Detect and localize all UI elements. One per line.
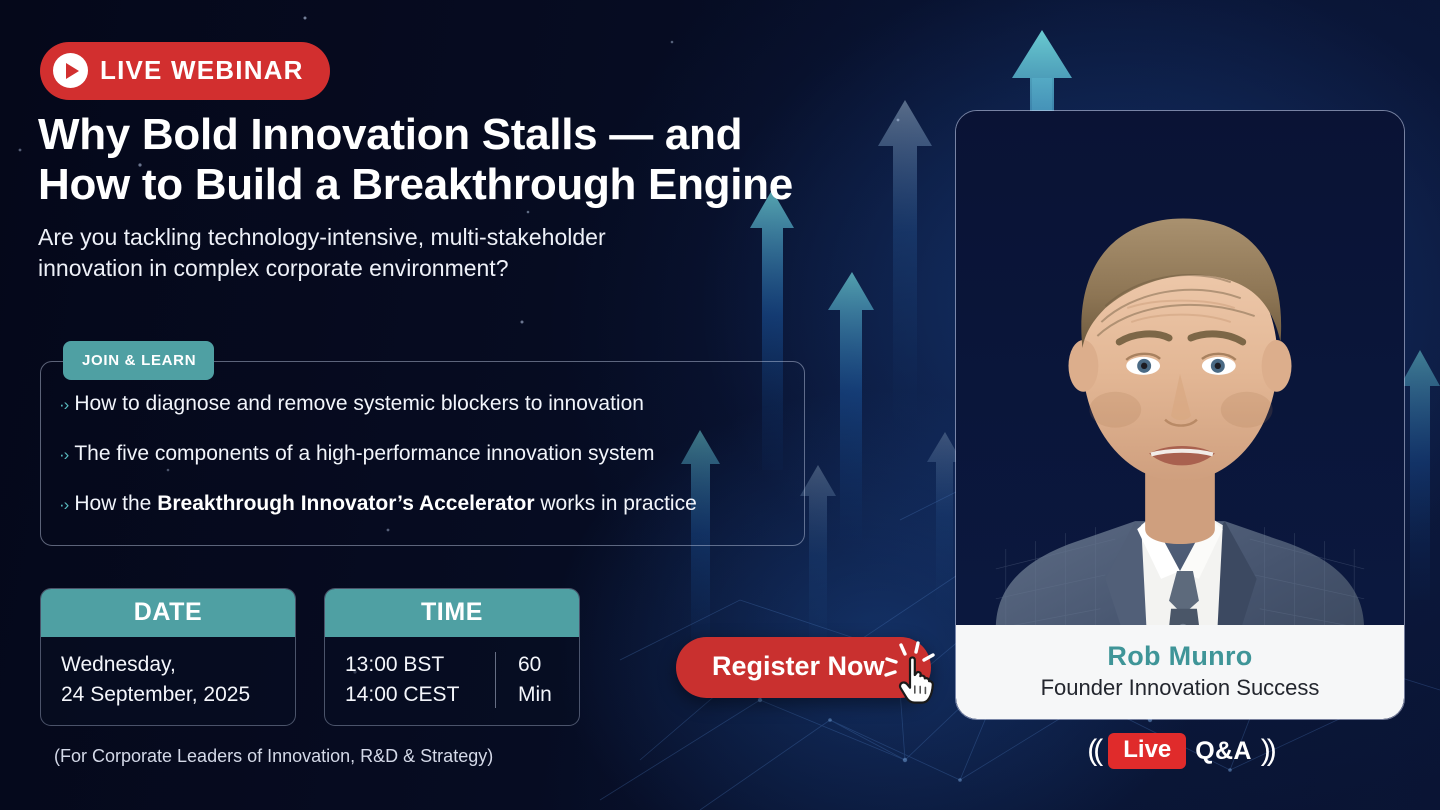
subheadline: Are you tackling technology-intensive, m… — [38, 222, 848, 283]
time-card: TIME 13:00 BST 14:00 CEST 60 Min — [324, 588, 580, 726]
webinar-poster: LIVE WEBINAR Why Bold Innovation Stalls … — [0, 0, 1440, 810]
time-card-body: 13:00 BST 14:00 CEST 60 Min — [325, 637, 579, 725]
chevron-bullet-icon: ·› — [59, 445, 68, 465]
live-chip: Live — [1108, 733, 1186, 769]
list-item-text: How to diagnose and remove systemic bloc… — [74, 392, 644, 416]
headline-line-1: Why Bold Innovation Stalls — and — [38, 110, 742, 159]
chevron-bullet-icon: ·› — [59, 395, 68, 415]
list-item-text-pre: How the — [74, 492, 157, 515]
register-now-button[interactable]: Register Now — [676, 637, 931, 698]
join-and-learn-tab: JOIN & LEARN — [63, 341, 214, 380]
list-item-text-post: works in practice — [535, 492, 697, 515]
date-line-2: 24 September, 2025 — [61, 680, 275, 710]
live-qa-badge: (( Live Q&A )) — [955, 733, 1405, 769]
time-card-header: TIME — [325, 589, 579, 637]
live-webinar-badge: LIVE WEBINAR — [40, 42, 330, 100]
speaker-nameplate: Rob Munro Founder Innovation Success — [956, 625, 1404, 719]
time-values: 13:00 BST 14:00 CEST — [345, 650, 495, 710]
duration-values: 60 Min — [496, 650, 552, 710]
date-line-1: Wednesday, — [61, 650, 275, 680]
join-and-learn-list: ·› How to diagnose and remove systemic b… — [59, 392, 794, 516]
subheadline-line-1: Are you tackling technology-intensive, m… — [38, 224, 606, 250]
date-card-body: Wednesday, 24 September, 2025 — [41, 637, 295, 725]
list-item-text: How the Breakthrough Innovator’s Acceler… — [74, 492, 696, 516]
speaker-role: Founder Innovation Success — [966, 675, 1394, 701]
headline-line-2: How to Build a Breakthrough Engine — [38, 160, 793, 209]
list-item: ·› How to diagnose and remove systemic b… — [59, 392, 794, 416]
register-now-label: Register Now — [712, 651, 885, 682]
date-card: DATE Wednesday, 24 September, 2025 — [40, 588, 296, 726]
date-time-row: DATE Wednesday, 24 September, 2025 TIME … — [40, 588, 580, 726]
duration-value: 60 — [518, 650, 552, 680]
right-paren-icon: )) — [1261, 734, 1273, 768]
chevron-bullet-icon: ·› — [59, 495, 68, 515]
left-paren-icon: (( — [1087, 734, 1099, 768]
time-line-1: 13:00 BST — [345, 650, 495, 680]
audience-footnote: (For Corporate Leaders of Innovation, R&… — [54, 746, 493, 767]
time-line-2: 14:00 CEST — [345, 680, 495, 710]
subheadline-line-2: innovation in complex corporate environm… — [38, 255, 509, 281]
speaker-name: Rob Munro — [966, 641, 1394, 672]
speaker-portrait-frame: Rob Munro Founder Innovation Success — [955, 110, 1405, 720]
list-item: ·› The five components of a high-perform… — [59, 442, 794, 466]
duration-unit: Min — [518, 680, 552, 710]
register-cta-wrapper: Register Now — [676, 637, 931, 698]
page-title: Why Bold Innovation Stalls — and How to … — [38, 110, 938, 210]
play-icon — [53, 53, 88, 88]
join-and-learn-box: JOIN & LEARN ·› How to diagnose and remo… — [40, 361, 805, 546]
list-item-text-strong: Breakthrough Innovator’s Accelerator — [157, 492, 534, 515]
click-hand-icon — [883, 641, 945, 707]
date-card-header: DATE — [41, 589, 295, 637]
list-item-text: The five components of a high-performanc… — [74, 442, 654, 466]
live-webinar-label: LIVE WEBINAR — [100, 55, 304, 86]
qa-label: Q&A — [1195, 737, 1251, 766]
list-item: ·› How the Breakthrough Innovator’s Acce… — [59, 492, 794, 516]
